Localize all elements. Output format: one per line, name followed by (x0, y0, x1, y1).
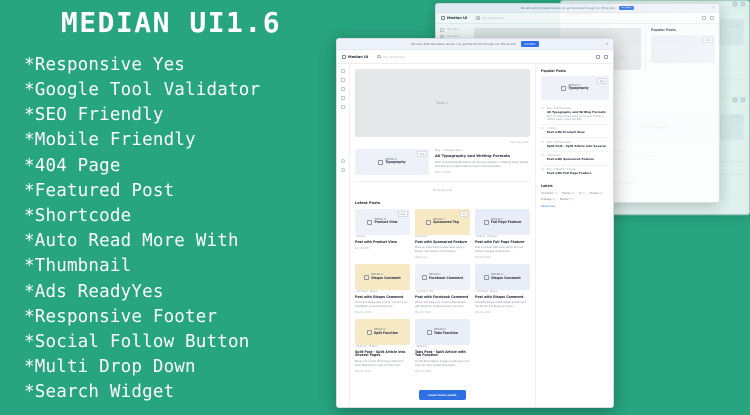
header-icon-group (596, 55, 608, 59)
card-date: May 01, 2023 (475, 311, 530, 314)
tag-icon[interactable] (341, 87, 346, 91)
featured-body: Blog — 5 Minutes Read All Typography and… (435, 149, 530, 175)
card-thumb-caption: MEDIAN UI Disqus Comment (371, 274, 400, 281)
hero-view-all-link[interactable]: View all posts (355, 137, 530, 149)
list-item[interactable]: 05 Blog · 3 Minutes · Fullpage Post with… (541, 165, 609, 179)
item-title: Post with Full Page Feature (547, 172, 592, 176)
list-item[interactable]: 03 Split · 5 Minutes Read Split Post - S… (541, 137, 609, 151)
bw1-popular-hero: New (651, 35, 715, 63)
grid-icon[interactable] (596, 55, 600, 59)
item-number: 05 (541, 168, 544, 176)
card-snippet: Where well take your social enable widge… (415, 301, 470, 308)
bw1-notice-text: We work with the latest version 1.6, get… (521, 7, 615, 10)
card-title[interactable]: Split Post - Split Article into Several … (355, 351, 410, 359)
load-more-button[interactable]: Load more posts (419, 390, 465, 400)
popular-hero-card[interactable]: New MEDIAN UI Typography (541, 76, 609, 100)
card-thumbnail: New MEDIAN UI Product View (355, 209, 410, 235)
card-thumbnail: MEDIAN UI Disqus Comment (475, 264, 530, 290)
new-badge: New (732, 21, 742, 27)
bw1-header-icons (702, 16, 714, 20)
load-more-wrapper: Load more posts (355, 373, 530, 407)
popular-posts-list: 01 Blog · 5 Minutes Read All Typography … (541, 104, 609, 178)
bw1-brand[interactable]: Median UI (441, 16, 467, 20)
feature-item: *Thumbnail (24, 254, 332, 279)
card-thumbnail: Ad MEDIAN UI Sponsored Tag (415, 209, 470, 235)
card-icon (427, 330, 432, 335)
card-thumb-caption: MEDIAN UI Sponsored Tag (433, 219, 459, 226)
card-thumb-caption: MEDIAN UI Full Page Feature (491, 219, 522, 226)
item-title: Split Post - Split Article into Several (547, 145, 606, 149)
feature-item: *Auto Read More With (24, 229, 332, 254)
feature-item: *404 Page (24, 154, 332, 179)
page-title: MEDIAN UI1.6 (10, 6, 332, 53)
bw1-sidebar: Popular Posts New (645, 24, 719, 70)
card-title[interactable]: Post with Disqus Comment (355, 296, 410, 300)
label-chip-name: Theme (562, 192, 571, 195)
item-title: Post with Product View (547, 131, 585, 135)
search-icon (476, 16, 479, 19)
feature-list: *Responsive Yes *Google Tool Validator *… (10, 53, 332, 406)
featured-thumb-title: Typography (385, 161, 405, 165)
card-icon (367, 330, 372, 335)
brand-label: Median UI (348, 55, 368, 59)
theme-toggle-icon[interactable] (604, 55, 608, 59)
feature-item: *Multi Drop Down (24, 355, 332, 380)
card-thumbnail: MEDIAN UI Facebook Comment (415, 264, 470, 290)
card-thumb-caption: MEDIAN UI Facebook Comment (429, 274, 463, 281)
brand-logo[interactable]: Median UI (342, 55, 368, 59)
grid-icon (733, 2, 737, 6)
logo-icon (342, 55, 346, 59)
card-icon (484, 220, 489, 225)
card-date: May 01, 2023 (355, 370, 410, 373)
typography-icon (561, 86, 566, 91)
chevron-down-icon (440, 28, 444, 32)
new-badge: New (597, 78, 607, 84)
theme-toggle-icon[interactable] (710, 16, 714, 20)
card-icon (426, 220, 431, 225)
card-price: Rs. 100.000 (355, 247, 410, 250)
list-item[interactable]: 02 · Product Post with Product View (541, 124, 609, 138)
grid-icon (733, 98, 737, 102)
label-chip-name: Fullpage (541, 198, 552, 201)
show-all-posts-link[interactable]: Show all posts (355, 182, 530, 199)
card-meta: · Multi-link (415, 345, 470, 348)
sponsored-badge: Ad (460, 211, 468, 217)
bw1-nav-item[interactable]: Sub menu (440, 28, 467, 32)
bw1-get-start-button[interactable]: Get Start (619, 6, 634, 10)
label-chip[interactable]: UI (3) (579, 192, 586, 195)
close-icon[interactable]: × (606, 42, 609, 46)
card-thumb-title: Full Page Feature (491, 221, 522, 225)
label-chip-name: Comment (541, 192, 553, 195)
card-meta: · Product (355, 235, 410, 238)
card-title[interactable]: Post with Full Page Feature (475, 241, 530, 245)
post-card[interactable]: MEDIAN UI Tabs Function · Multi-link Tab… (415, 319, 470, 373)
close-icon[interactable]: × (712, 6, 715, 10)
theme-toggle-icon (741, 98, 745, 102)
featured-meta: Blog — 5 Minutes Read (435, 149, 530, 152)
card-thumbnail: MEDIAN UI Disqus Comment (355, 264, 410, 290)
featured-date: May 13, 2023 (435, 171, 530, 174)
post-card[interactable]: Ad MEDIAN UI Sponsored Tag Sponsored Pos… (415, 209, 470, 259)
hero-slider-label: Slider 1 (436, 101, 448, 105)
label-chip-name: Median (560, 198, 569, 201)
labels-chip-group: Comment (4) Theme (6) UI (3) Feature (5)… (541, 191, 609, 205)
item-snippet: Each of Limited styles below can be used… (547, 115, 609, 121)
grid-icon[interactable] (702, 16, 706, 20)
card-icon (367, 220, 372, 225)
latest-posts-heading: Latest Posts (355, 199, 530, 209)
popular-hero-caption: MEDIAN UI Typography (568, 85, 588, 92)
labels-heading: Labels (541, 184, 609, 188)
site-footer: © 2023 - Median UI. All rights reserved.… (337, 407, 613, 408)
card-date: May 09, 2023 (475, 256, 530, 259)
post-card[interactable]: MEDIAN UI Split Function · Multi-link · … (355, 319, 410, 373)
card-meta: · Comment · FB (415, 290, 470, 293)
card-meta: · Comment · Disqus (475, 290, 530, 293)
feature-item: *Responsive Footer (24, 305, 332, 330)
item-title: Post with Sponsored Feature (547, 158, 594, 162)
item-number: 02 (541, 127, 544, 135)
search-icon (377, 55, 380, 58)
card-date: Read more (415, 256, 470, 259)
right-sidebar: Popular Posts New MEDIAN UI Typography 0… (535, 64, 613, 407)
popular-posts-heading: Popular Posts (541, 69, 609, 73)
card-meta: · Multi-link · Mission (355, 345, 410, 348)
bw1-site-header: Median UI Try: Shortcode (436, 13, 719, 24)
post-card[interactable]: MEDIAN UI Facebook Comment · Comment · F… (415, 264, 470, 314)
card-date: May 01, 2023 (355, 311, 410, 314)
main-content: Slider 1 View all posts New MEDIAN UI Ty… (350, 64, 535, 407)
card-date: May 01, 2023 (415, 370, 470, 373)
user-icon[interactable] (341, 159, 345, 163)
label-chip[interactable]: Feature (5) (589, 192, 603, 195)
featured-thumb-caption: MEDIAN UI Typography (385, 159, 405, 166)
featured-title[interactable]: All Typography and Writing Formats (435, 154, 530, 158)
logo-icon (441, 16, 445, 20)
label-chip-name: UI (579, 192, 582, 195)
label-chip-count: (5) (600, 192, 604, 195)
post-card[interactable]: MEDIAN UI Disqus Comment · Comment · Dis… (355, 264, 410, 314)
card-thumb-caption: MEDIAN UI Split Function (374, 329, 398, 336)
card-title[interactable]: Post with Disqus Comment (475, 296, 530, 300)
feature-item: *Search Widget (24, 380, 332, 405)
card-meta: Sponsored (415, 235, 470, 238)
item-number: 01 (541, 107, 544, 122)
hero-slider[interactable]: Slider 1 (355, 69, 530, 137)
card-thumbnail: MEDIAN UI Tabs Function (415, 319, 470, 345)
label-chip-count: (2) (552, 198, 556, 201)
bw1-search-input[interactable]: Try: Shortcode (472, 14, 567, 22)
feature-item: *Shortcode (24, 204, 332, 229)
card-thumb-title: Product View (374, 221, 397, 225)
feature-item: *Responsive Yes (24, 53, 332, 78)
bw1-nav-label: Sub menu (447, 28, 459, 31)
list-item[interactable]: 04 · Sponsored Post with Sponsored Featu… (541, 151, 609, 165)
post-card[interactable]: MEDIAN UI Full Page Feature · Feature · … (475, 209, 530, 259)
card-thumbnail: MEDIAN UI Split Function (355, 319, 410, 345)
card-meta: · Feature · Fullpage (475, 235, 530, 238)
promo-panel: MEDIAN UI1.6 *Responsive Yes *Google Too… (0, 0, 332, 415)
featured-thumbnail: New MEDIAN UI Typography (355, 149, 429, 175)
new-badge: New (398, 211, 408, 217)
label-chip[interactable]: Median (7) (560, 198, 573, 201)
label-chip-count: (3) (582, 192, 586, 195)
search-input[interactable]: Try: Shortcode (373, 53, 468, 61)
featured-snippet: Each of Limited styles below can be used… (435, 161, 530, 169)
card-snippet: Place an advert which posts label using … (415, 246, 470, 253)
home-icon[interactable] (341, 69, 346, 73)
site-body: Slider 1 View all posts New MEDIAN UI Ty… (337, 64, 613, 407)
card-thumb-title: Sponsored Tag (433, 221, 459, 225)
theme-toggle-icon (741, 2, 745, 6)
featured-post[interactable]: New MEDIAN UI Typography Blog — 5 Minute… (355, 149, 530, 182)
feature-item: *Ads ReadyYes (24, 280, 332, 305)
labels-show-more-link[interactable]: Show more (541, 205, 609, 208)
card-thumbnail: MEDIAN UI Full Page Feature (475, 209, 530, 235)
main-browser-window[interactable]: We work with the latest version 1.6, get… (336, 38, 614, 408)
bw1-search-placeholder: Try: Shortcode (482, 16, 503, 20)
card-thumb-title: Split Function (374, 332, 398, 336)
typography-icon (378, 160, 383, 165)
layers-icon[interactable] (341, 105, 346, 109)
feature-item: *Social Follow Button (24, 330, 332, 355)
feature-item: *Mobile Friendly (24, 128, 332, 153)
card-title[interactable]: Tabs Post - Split Article with Tab Funct… (415, 351, 470, 359)
card-icon (484, 275, 489, 280)
card-date: May 01, 2023 (415, 311, 470, 314)
get-start-button[interactable]: Get Start (521, 41, 539, 47)
clock-icon[interactable] (341, 96, 346, 100)
card-thumb-title: Facebook Comment (429, 277, 463, 281)
search-placeholder: Try: Shortcode (383, 55, 404, 59)
settings-icon[interactable] (341, 168, 345, 172)
notice-bar: We work with the latest version 1.6, get… (337, 39, 613, 50)
label-chip[interactable]: Comment (4) (541, 192, 558, 195)
label-chip-name: Feature (589, 192, 598, 195)
card-thumb-title: Disqus Comment (491, 277, 520, 281)
new-badge: New (732, 116, 742, 122)
item-number: 04 (541, 154, 544, 162)
feature-item: *SEO Friendly (24, 103, 332, 128)
label-chip-count: (4) (554, 192, 558, 195)
label-chip[interactable]: Fullpage (2) (541, 198, 556, 201)
popular-hero-title: Typography (568, 87, 588, 91)
card-snippet: Comment disqus easy source, connect your… (355, 301, 410, 308)
card-title[interactable]: Post with Product View (355, 241, 410, 245)
card-thumb-caption: MEDIAN UI Product View (374, 219, 397, 226)
post-card-grid: New MEDIAN UI Product View · Product Pos… (355, 209, 530, 373)
label-chip-count: (7) (570, 198, 574, 201)
card-icon (364, 275, 369, 280)
notice-text: We work with the latest version 1.6, get… (411, 43, 517, 46)
card-snippet: Do the three tabs in a page providing an… (415, 360, 470, 367)
left-icon-rail (337, 64, 350, 407)
item-title: All Typography and Writing Formats (547, 111, 609, 115)
card-title[interactable]: Post with Facebook Comment (415, 296, 470, 300)
card-title[interactable]: Post with Sponsored Feature (415, 241, 470, 245)
card-meta: · Comment · Disqus (355, 290, 410, 293)
list-item[interactable]: 01 Blog · 5 Minutes Read All Typography … (541, 104, 609, 124)
card-snippet: Bring a lot a full a Technology which in… (355, 360, 410, 367)
new-badge: New (703, 37, 713, 43)
post-card[interactable]: New MEDIAN UI Product View · Product Pos… (355, 209, 410, 259)
bookmark-icon[interactable] (341, 78, 346, 82)
bw1-popular-title: Popular Posts (651, 28, 715, 32)
feature-item: *Google Tool Validator (24, 78, 332, 103)
card-thumb-title: Tabs Function (434, 332, 458, 336)
bw1-notice-bar: We work with the latest version 1.6, get… (436, 4, 719, 13)
bw1-brand-label: Median UI (447, 16, 467, 20)
label-chip[interactable]: Theme (6) (562, 192, 575, 195)
card-snippet: Post on actual AMP posts within the port… (475, 246, 530, 253)
site-header: Median UI Try: Shortcode (337, 50, 613, 64)
post-card[interactable]: MEDIAN UI Disqus Comment · Comment · Dis… (475, 264, 530, 314)
item-number: 03 (541, 141, 544, 149)
card-icon (422, 275, 427, 280)
card-snippet: Available disqus install widget system a… (475, 301, 530, 308)
feature-item: *Featured Post (24, 179, 332, 204)
label-chip-count: (6) (571, 192, 575, 195)
card-thumb-caption: MEDIAN UI Tabs Function (434, 329, 458, 336)
card-thumb-caption: MEDIAN UI Disqus Comment (491, 274, 520, 281)
card-thumb-title: Disqus Comment (371, 277, 400, 281)
new-badge: New (417, 151, 427, 157)
